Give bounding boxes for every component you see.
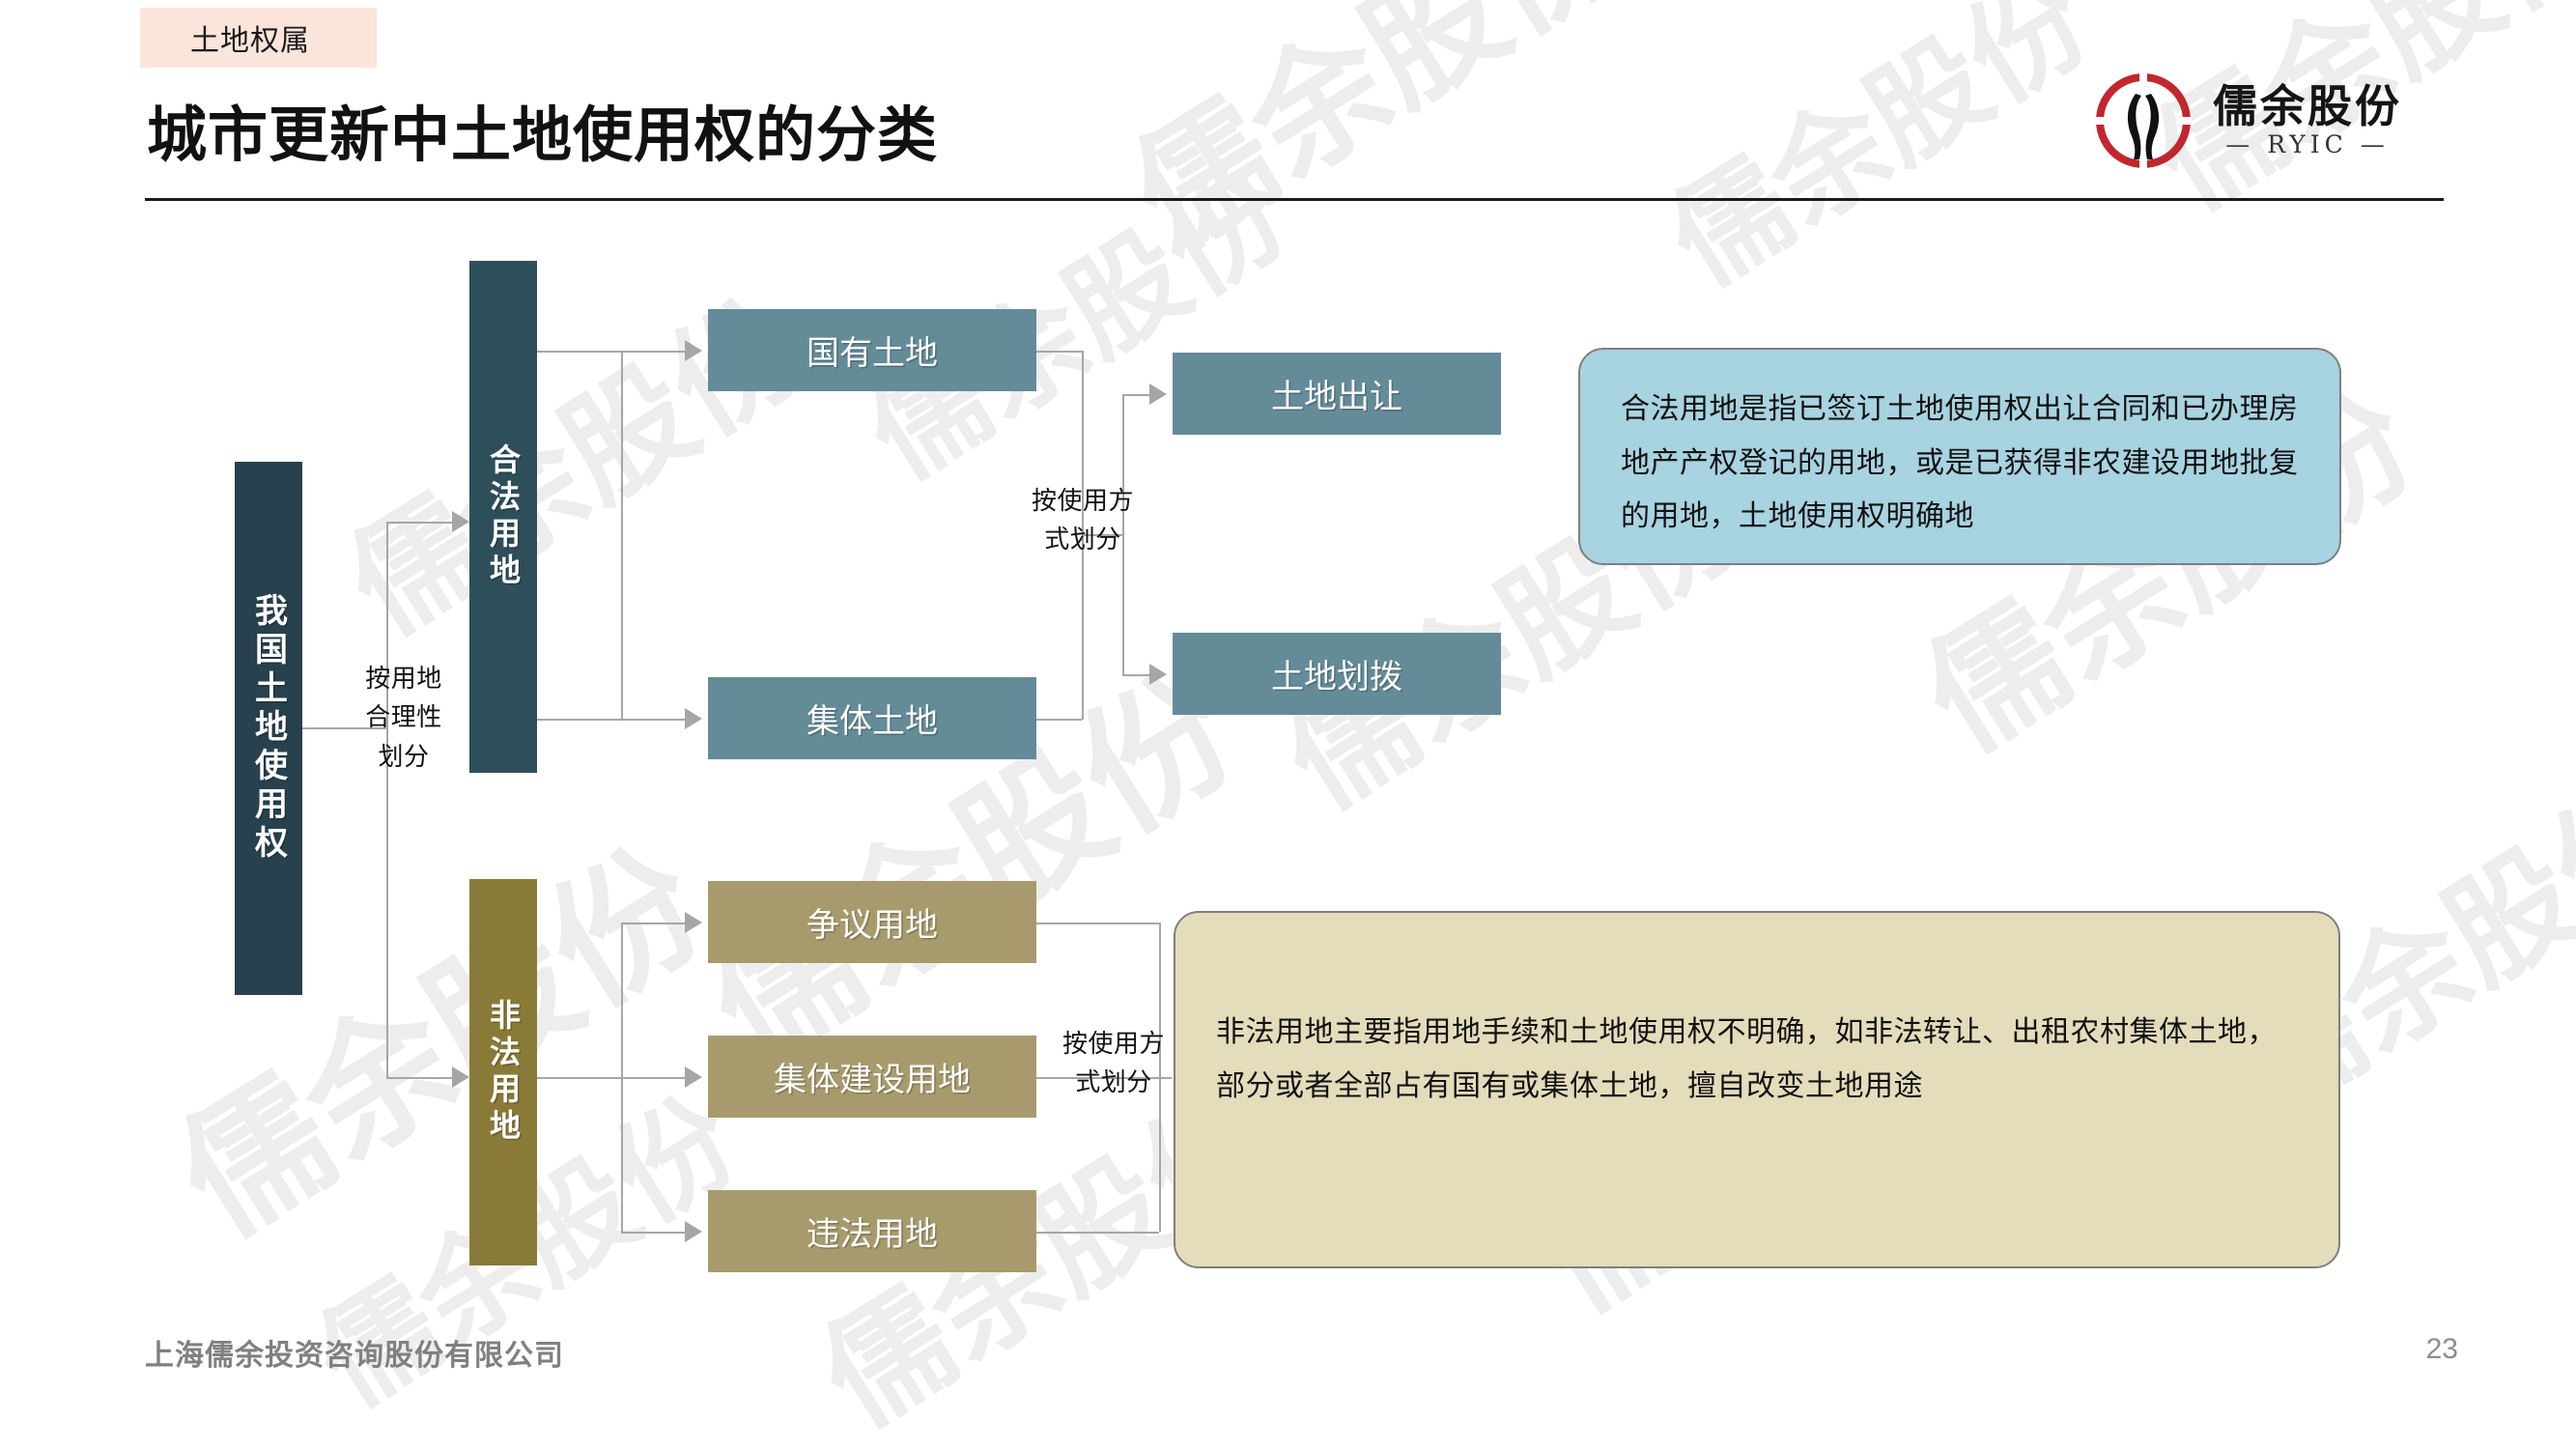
connector-to-illegal xyxy=(386,1077,456,1079)
node-root[interactable]: 我国土地使用权 xyxy=(235,462,302,995)
ryic-circle-icon xyxy=(2091,69,2195,173)
section-kicker-label: 土地权属 xyxy=(190,16,310,59)
arrowhead-violation-land xyxy=(685,1221,702,1242)
connector-collective-land-out xyxy=(1036,719,1082,721)
edge-label-line: 式划分 xyxy=(1041,1063,1186,1101)
node-illegal-land[interactable]: 非法用地 xyxy=(469,879,537,1265)
flowchart: 我国土地使用权 按用地 合理性 划分 合法用地 国有土地 集体土地 xyxy=(0,0,2576,1449)
connector-to-violation-land xyxy=(621,1232,689,1234)
connector-legal-out-top xyxy=(537,351,621,353)
node-collective-construction-land[interactable]: 集体建设用地 xyxy=(708,1036,1036,1118)
node-land-grant[interactable]: 土地出让 xyxy=(1173,353,1501,435)
footer-company-name: 上海儒余投资咨询股份有限公司 xyxy=(145,1331,564,1374)
arrowhead-land-allocation xyxy=(1149,664,1167,685)
brand-logo: 儒余股份 — RYIC — xyxy=(2091,68,2516,174)
edge-label-usage-mode-legal: 按使用方 式划分 xyxy=(1010,481,1155,559)
connector-legal-out-bottom xyxy=(537,719,621,721)
node-state-owned-land[interactable]: 国有土地 xyxy=(708,309,1036,391)
node-land-allocation[interactable]: 土地划拨 xyxy=(1173,633,1501,715)
arrowhead-illegal xyxy=(452,1066,469,1088)
arrowhead-state-land xyxy=(685,340,702,361)
slide-root: 儒余股份 儒余股份 儒余股份 儒余股份 儒余股份 儒余股份 儒余股份 儒余股份 … xyxy=(0,0,2576,1449)
connector-to-collective-construction-land xyxy=(621,1077,689,1079)
edge-label-reasonability: 按用地 合理性 划分 xyxy=(346,659,462,776)
connector-disputed-out xyxy=(1036,923,1159,924)
edge-label-line: 按用地 xyxy=(346,659,462,697)
node-violation-land[interactable]: 违法用地 xyxy=(708,1190,1036,1272)
logo-en-text: — RYIC — xyxy=(2225,131,2389,158)
edge-label-usage-mode-illegal: 按使用方 式划分 xyxy=(1041,1024,1186,1102)
edge-label-line: 划分 xyxy=(346,737,462,776)
callout-legal-land-definition: 合法用地是指已签订土地使用权出让合同和已办理房地产产权登记的用地，或是已获得非农… xyxy=(1578,348,2341,565)
connector-level1-trunk xyxy=(386,522,388,1078)
connector-to-collective-land xyxy=(621,719,689,721)
connector-violation-out xyxy=(1036,1232,1159,1234)
edge-label-line: 合理性 xyxy=(346,697,462,736)
connector-legal-trunk xyxy=(621,351,623,720)
title-divider xyxy=(145,198,2444,201)
connector-illegal-out xyxy=(537,1077,621,1079)
node-disputed-land[interactable]: 争议用地 xyxy=(708,881,1036,963)
connector-to-legal xyxy=(386,522,456,524)
callout-illegal-land-definition: 非法用地主要指用地手续和土地使用权不明确，如非法转让、出租农村集体土地，部分或者… xyxy=(1174,911,2340,1268)
section-kicker-badge: 土地权属 xyxy=(140,8,377,68)
arrowhead-collective-construction-land xyxy=(685,1066,702,1088)
connector-to-state-land xyxy=(621,351,689,353)
edge-label-line: 按使用方 xyxy=(1010,481,1155,520)
arrowhead-disputed-land xyxy=(685,912,702,933)
node-legal-land[interactable]: 合法用地 xyxy=(469,261,537,773)
footer-page-number: 23 xyxy=(2426,1333,2458,1366)
connector-state-land-out xyxy=(1036,351,1082,353)
edge-label-line: 式划分 xyxy=(1010,520,1155,558)
page-title: 城市更新中土地使用权的分类 xyxy=(147,106,938,166)
edge-label-line: 按使用方 xyxy=(1041,1024,1186,1063)
logo-cn-text: 儒余股份 xyxy=(2213,83,2402,129)
logo-wordmark: 儒余股份 — RYIC — xyxy=(2213,83,2402,158)
arrowhead-legal xyxy=(452,511,469,532)
arrowhead-land-grant xyxy=(1149,384,1167,405)
node-collective-land[interactable]: 集体土地 xyxy=(708,677,1036,759)
arrowhead-collective-land xyxy=(685,708,702,729)
connector-to-disputed-land xyxy=(621,923,689,924)
